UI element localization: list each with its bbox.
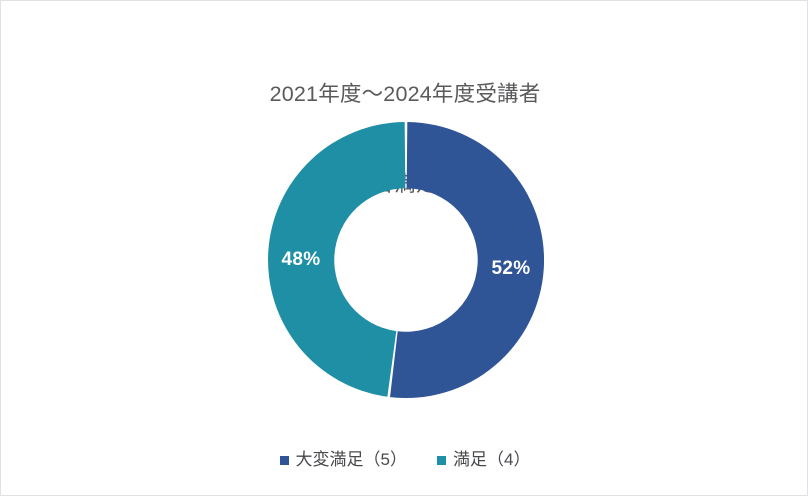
legend-item-label: 大変満足（5）	[296, 450, 407, 470]
chart-title-line-1: 2021年度～2024年度受講者	[1, 79, 808, 109]
square-marker-icon	[437, 456, 446, 465]
chart-legend: 大変満足（5） 満足（4）	[1, 450, 808, 470]
legend-item-label: 満足（4）	[453, 450, 530, 470]
donut-label-satisfied: 48%	[253, 249, 349, 271]
legend-item-satisfied[interactable]: 満足（4）	[437, 450, 530, 470]
square-marker-icon	[280, 456, 289, 465]
legend-item-very-satisfied[interactable]: 大変満足（5）	[280, 450, 407, 470]
chart-card: 2021年度～2024年度受講者 総合満足度 52% 48% 大変満足（5） 満…	[0, 0, 808, 496]
donut-label-very-satisfied: 52%	[463, 258, 559, 280]
